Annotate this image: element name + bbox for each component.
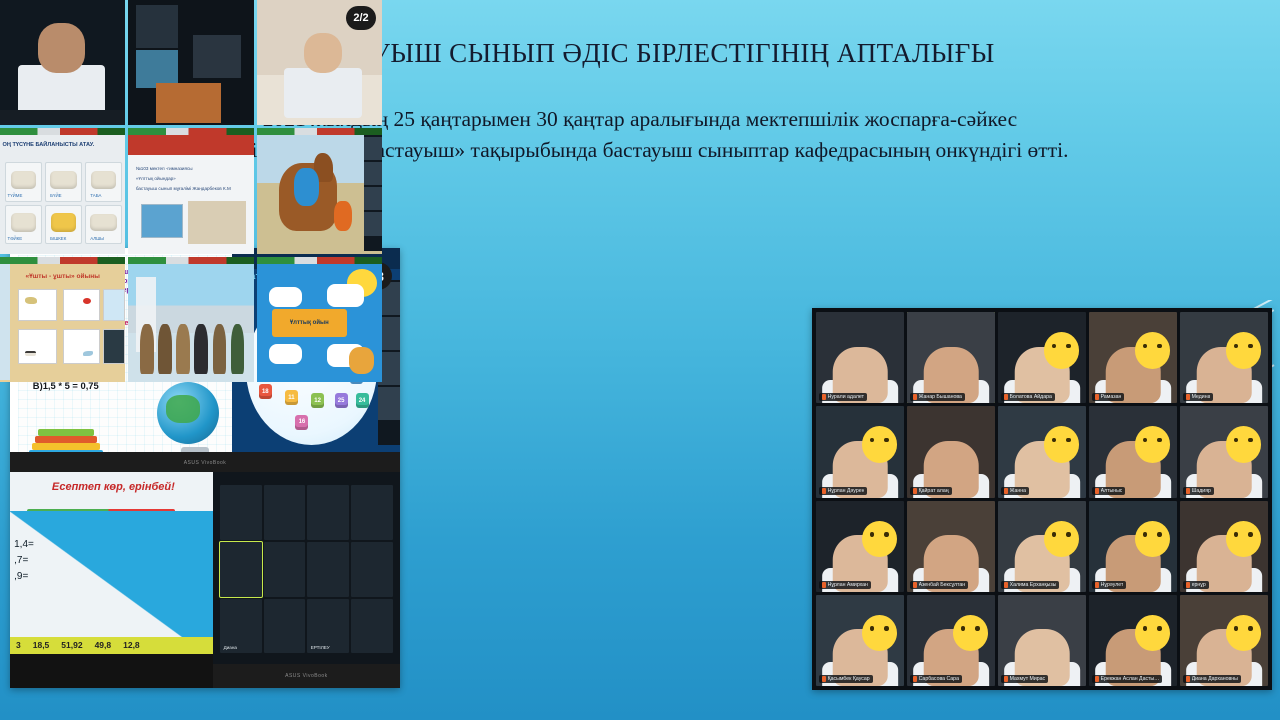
zoom-participant-tile[interactable]: Шадияр [1180,406,1268,497]
number-token: 16 [295,415,308,430]
bone-label: БІШКЕК [50,236,66,241]
microphone-icon [1095,676,1099,682]
zoom-tile [351,485,393,540]
laptop-brand-label: ASUS VivoBook [285,673,328,679]
presentation-line-2: «Ұлттық ойындар» [136,176,176,181]
zoom-tile [264,542,306,597]
slide-subtitle: 2021 жылдың 25 қаңтарымен 30 қаңтар арал… [90,104,1190,166]
participant-name: Ерекжан Аслан Дасты… [1101,676,1160,682]
expression: 1,4= [14,537,34,553]
participant-name: Шадияр [1192,488,1211,494]
participant-name-tag: Диана Дархановны [1183,675,1241,683]
presentation-line-1: №103 мектеп -гимназиясы [136,166,193,171]
zoom-participant-tile[interactable]: Ерекжан Аслан Дасты… [1089,595,1177,686]
participant-name: Нұрәулет [1101,582,1124,588]
zoom-tile [264,599,306,654]
microphone-icon [1186,676,1190,682]
participant-name: Сарбасова Сара [919,676,959,682]
smiley-face-icon [1226,521,1261,558]
smiley-face-icon [1226,332,1261,369]
collage-cell-boy-at-desk: 2/2 [257,0,382,125]
participant-name-tag: Нурали адалет [819,393,867,401]
participant-name: Медина [1192,394,1211,400]
smiley-face-icon [1044,426,1079,463]
microphone-icon [913,676,917,682]
answer-strip: 3 18,5 51,92 49,8 12,8 [10,637,217,654]
page-badge-2of2: 2/2 [346,6,376,30]
laptop-brand-label: ASUS VivoBook [184,460,227,466]
microphone-icon [822,488,826,494]
zoom-participant-grid: Нурали адалетЖанар БышановаБолатова Айда… [816,312,1268,686]
speech-bubble [327,284,365,307]
zoom-participant-tile[interactable]: Нұрлан Дәурен [816,406,904,497]
zoom-tile-name: ЕРТІЛЕУ [311,645,330,650]
cartoon-character [349,347,374,375]
ulttyk-oiyn-label: Ұлттық ойын [272,309,347,337]
zoom-tile [351,599,393,654]
calculation-slide: Есептеп көр, ерінбей! 1,4= ,7= ,9= 3 18,… [10,472,217,688]
answer-value: 3 [16,640,21,650]
zoom-tile [351,542,393,597]
answer-value: 12,8 [123,640,140,650]
participant-name: Болатова Айдара [1010,394,1052,400]
participant-name: Диана Дархановны [1192,676,1238,682]
number-token: 11 [285,390,298,405]
zoom-participant-tile[interactable]: Медина [1180,312,1268,403]
smiley-face-icon [1044,332,1079,369]
collage-cell-ulttyk-oiyn: Ұлттық ойын [257,257,382,382]
bone-label: ТҮЙМЕ [8,193,23,198]
window-title-bar [0,128,125,135]
collage-cell-presentation-slide: №103 мектеп -гимназиясы «Ұлттық ойындар»… [128,128,253,253]
zoom-participant-tile[interactable]: Азенбай Бексұлтан [907,501,995,592]
participant-name: Жанна [1010,488,1026,494]
lower-laptop-shot: Есептеп көр, ерінбей! 1,4= ,7= ,9= 3 18,… [10,472,400,688]
zoom-participant-tile[interactable]: Рамазан [1089,312,1177,403]
smiley-face-icon [1226,615,1261,652]
smiley-face-icon [1135,521,1170,558]
participant-name: Нұрлан Амирхан [828,582,868,588]
participant-name-tag: Рамазан [1092,393,1125,401]
zoom-participant-tile[interactable]: Махмут Мирас [998,595,1086,686]
participant-name-tag: Қасымбек Қаусар [819,675,873,683]
microphone-icon [1004,676,1008,682]
subtitle-line-2: «Білімнің-негізі-бастауыш» тақырыбында б… [90,135,1190,166]
participant-name-tag: Қайрат алаң [910,487,952,495]
bone-label: ТӘЙКЕ [8,236,23,241]
zoom-participant-tile[interactable]: Нурали адалет [816,312,904,403]
bone-label: АЛШЫ [90,236,104,241]
window-title-bar [128,257,253,264]
zoom-participant-tile[interactable]: Диана Дархановны [1180,595,1268,686]
ushty-title: «Ұшты - ұшты» ойыны [8,273,118,280]
zoom-participant-tile[interactable]: Жанна [998,406,1086,497]
expression-list: 1,4= ,7= ,9= [14,537,34,585]
participant-name: Қайрат алаң [919,488,949,494]
participant-name: Махмут Мирас [1010,676,1045,682]
microphone-icon [1004,488,1008,494]
microphone-icon [822,582,826,588]
laptop-bezel-lower [10,654,217,688]
participant-name-tag: Шадияр [1183,487,1214,495]
participant-name-tag: Болатова Айдара [1001,393,1055,401]
zoom-tile [307,542,349,597]
participant-name-tag: Азенбай Бексұлтан [910,581,969,589]
calculation-slide-title: Есептеп көр, ерінбей! [27,481,201,493]
smiley-face-icon [1135,615,1170,652]
right-zoom-grid-photo: Нурали адалетЖанар БышановаБолатова Айда… [812,308,1272,690]
participant-name-tag: Жанна [1001,487,1029,495]
zoom-mini-grid: Диана ЕРТІЛЕУ [220,485,392,653]
zoom-participant-tile[interactable]: Болатова Айдара [998,312,1086,403]
zoom-gallery-small: Диана ЕРТІЛЕУ ASUS VivoBook [213,472,400,688]
microphone-icon [913,488,917,494]
window-title-bar [128,128,253,135]
microphone-icon [1004,582,1008,588]
participant-name-tag: Халима Ерханқызы [1001,581,1060,589]
microphone-icon [1186,488,1190,494]
participant-name: Жанар Бышанова [919,394,962,400]
middle-photo-collage: 2/2 ОҢ ТҮСҮНЕ БАЙЛАНЫСТЫ АТАУ. ТҮЙМЕ БҮЙ… [0,0,382,382]
expression: ,7= [14,553,34,569]
slide-canvas: БАСТАУЫШ СЫНЫП ӘДІС БІРЛЕСТІГІНІҢ АПТАЛЫ… [0,0,1280,720]
zoom-tile [264,485,306,540]
microphone-icon [913,394,917,400]
smiley-face-icon [1135,426,1170,463]
smiley-face-icon [1226,426,1261,463]
microphone-icon [913,582,917,588]
zoom-participant-tile[interactable]: Қайрат алаң [907,406,995,497]
collage-cell-folk-costume [128,257,253,382]
zoom-tile [307,485,349,540]
bone-label: БҮЙЕ [50,193,61,198]
collage-cell-zoom-four-participants [128,0,253,125]
participant-name-tag: Сарбасова Сара [910,675,962,683]
participant-name: Нурали адалет [828,394,864,400]
smiley-face-icon [1135,332,1170,369]
zoom-tile-name: Диана [224,645,237,650]
zoom-participant-tile-active[interactable]: Жанар Бышанова [907,312,995,403]
globe-clipart [157,382,219,444]
zoom-tile [220,485,262,540]
participant-name-tag: Алтыныс [1092,487,1126,495]
window-title-bar [0,257,125,264]
window-title-bar [257,128,382,135]
zoom-participant-tile[interactable]: Алтыныс [1089,406,1177,497]
zoom-tile: Диана [220,599,262,654]
collage-cell-asyk-bones: ОҢ ТҮСҮНЕ БАЙЛАНЫСТЫ АТАУ. ТҮЙМЕ БҮЙЕ ТА… [0,128,125,253]
number-token: 25 [335,393,348,408]
speech-bubble [269,344,302,364]
children-in-costume [136,317,249,375]
zoom-tile-active [220,542,262,597]
participant-name-tag: ернұр [1183,581,1209,589]
participant-name: Азенбай Бексұлтан [919,582,966,588]
microphone-icon [1186,582,1190,588]
participant-name-tag: Нұрлан Дәурен [819,487,868,495]
microphone-icon [822,394,826,400]
microphone-icon [1095,394,1099,400]
asyk-heading: ОҢ ТҮСҮНЕ БАЙЛАНЫСТЫ АТАУ. [3,142,123,148]
speech-bubble [269,287,302,307]
microphone-icon [1004,394,1008,400]
laptop-bezel-right: ASUS VivoBook [213,664,400,688]
zoom-participant-tile[interactable]: Қасымбек Қаусар [816,595,904,686]
participant-filmstrip [364,135,382,250]
participant-name: Қасымбек Қаусар [828,676,870,682]
presentation-line-3: бастауыш сынып мұғалімі Жандарбеков К.М [136,186,231,191]
number-token: 12 [311,393,324,408]
participant-name: Рамазан [1101,394,1122,400]
participant-name: Нұрлан Дәурен [828,488,865,494]
microphone-icon [1095,582,1099,588]
microphone-icon [1095,488,1099,494]
participant-name: Халима Ерханқызы [1010,582,1057,588]
participant-name-tag: Нұрәулет [1092,581,1127,589]
smiley-face-icon [862,426,897,463]
participant-name-tag: Медина [1183,393,1214,401]
number-token: 18 [259,384,272,399]
zoom-participant-tile[interactable]: Нұрлан Амирхан [816,501,904,592]
window-title-bar [257,257,382,264]
expression: ,9= [14,569,34,585]
zoom-participant-tile[interactable]: Нұрәулет [1089,501,1177,592]
collage-cell-ushty-game: «Ұшты - ұшты» ойыны [0,257,125,382]
answer-value: 18,5 [33,640,50,650]
participant-name: Алтыныс [1101,488,1123,494]
number-token: 24 [356,393,369,408]
participant-name-tag: Ерекжан Аслан Дасты… [1092,675,1163,683]
answer-value: 51,92 [61,640,82,650]
smiley-face-icon [1044,521,1079,558]
smiley-face-icon [862,615,897,652]
microphone-icon [1186,394,1190,400]
zoom-participant-tile[interactable]: Сарбасова Сара [907,595,995,686]
zoom-participant-tile[interactable]: Халима Ерханқызы [998,501,1086,592]
zoom-tile: ЕРТІЛЕУ [307,599,349,654]
smiley-face-icon [862,521,897,558]
bone-label: ТАБА [90,193,101,198]
participant-name-tag: Нұрлан Амирхан [819,581,871,589]
participant-name-tag: Жанар Бышанова [910,393,965,401]
microphone-icon [822,676,826,682]
collage-cell-horse-race [257,128,382,253]
collage-cell-teacher-webcam [0,0,125,125]
zoom-participant-tile[interactable]: ернұр [1180,501,1268,592]
answer-value: 49,8 [95,640,112,650]
participant-name-tag: Махмут Мирас [1001,675,1048,683]
smiley-face-icon [953,615,988,652]
participant-name: ернұр [1192,582,1206,588]
